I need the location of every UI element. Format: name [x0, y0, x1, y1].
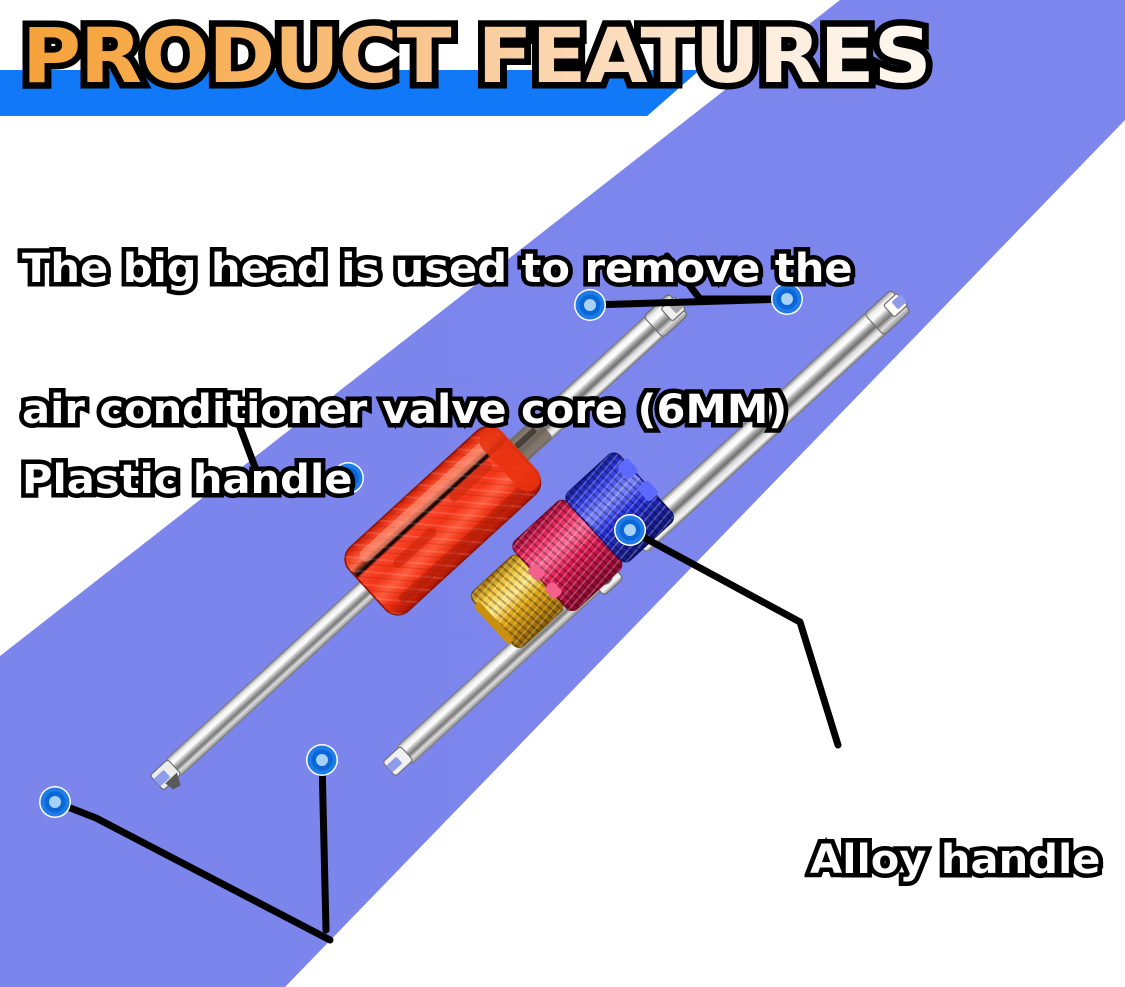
marker-small-head-right — [306, 744, 338, 776]
callout-plastic-handle-text: Plastic handle — [22, 457, 352, 503]
callout-big-head-line1: The big head is used to remove the — [22, 246, 853, 292]
marker-small-head-left — [39, 786, 71, 818]
infographic-canvas: PRODUCT FEATURES PRODUCT FEATURES The bi… — [0, 0, 1125, 987]
callout-small-head-label: Small head for tire valve core (4MM)Smal… — [312, 930, 1125, 987]
page-title: PRODUCT FEATURES PRODUCT FEATURES — [22, 10, 879, 106]
page-title-fill: PRODUCT FEATURES — [22, 10, 931, 102]
leader-small-head-right — [322, 760, 326, 930]
callout-plastic-handle-label: Plastic handlePlastic handle — [22, 363, 352, 598]
callout-alloy-handle-text: Alloy handle — [810, 837, 1100, 883]
